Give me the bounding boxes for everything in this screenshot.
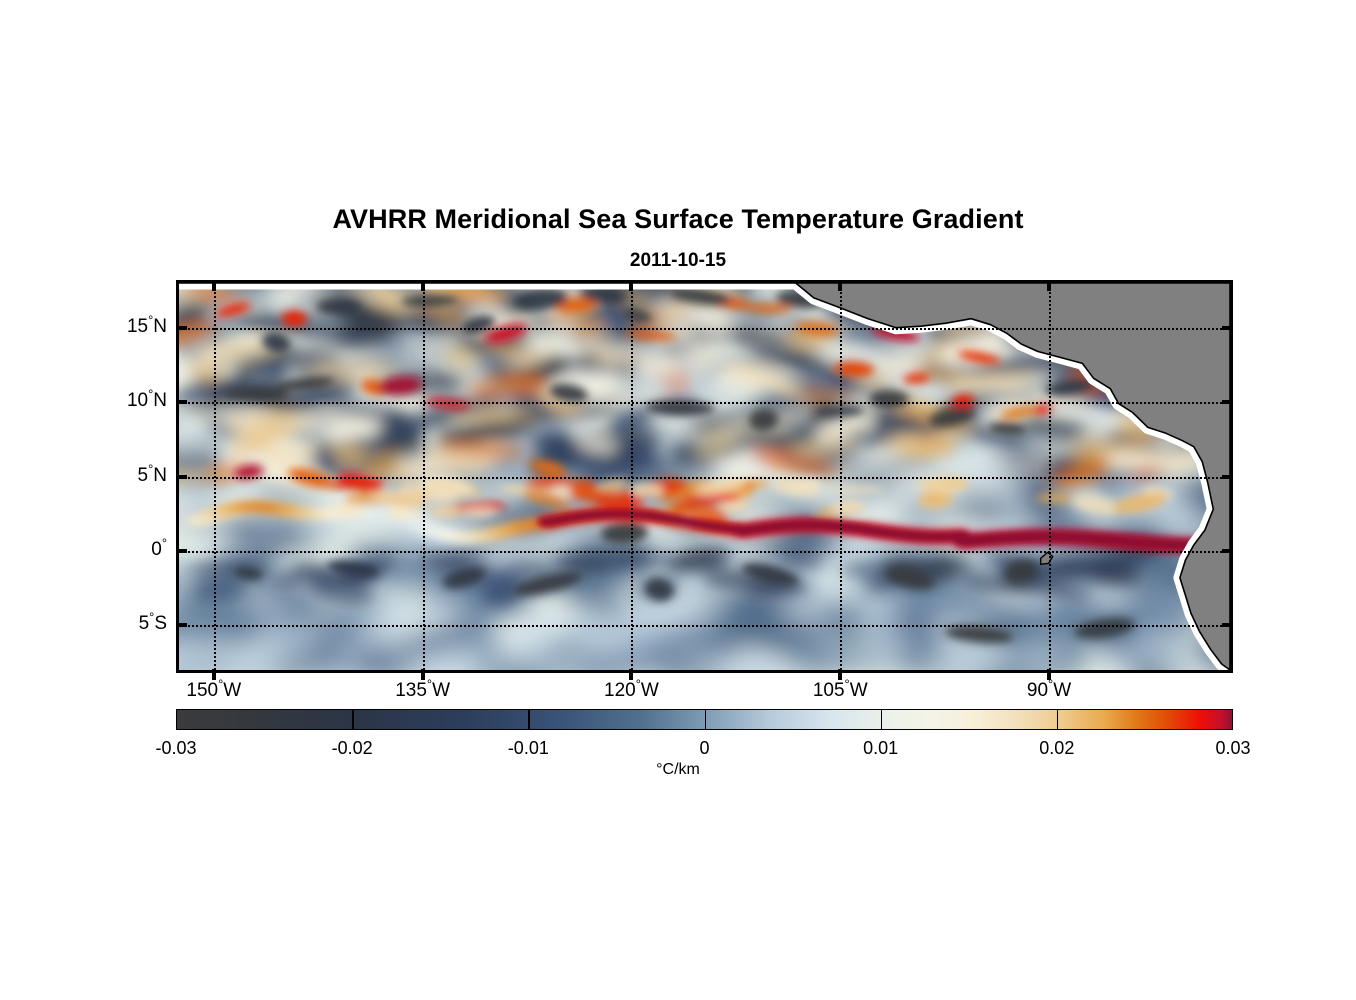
x-tick-top bbox=[1047, 280, 1051, 291]
x-tick-top bbox=[838, 280, 842, 291]
figure-subtitle: 2011-10-15 bbox=[0, 250, 1356, 272]
colorbar-tick-label: 0 bbox=[645, 739, 765, 757]
x-tick bbox=[212, 669, 216, 680]
y-tick-label: 0° bbox=[151, 540, 167, 559]
x-tick-label: 120°W bbox=[561, 681, 701, 700]
colorbar-tick-label: 0.01 bbox=[821, 739, 941, 757]
colorbar-tick-label: 0.03 bbox=[1173, 739, 1293, 757]
x-tick bbox=[421, 669, 425, 680]
x-tick-top bbox=[421, 280, 425, 291]
y-tick bbox=[176, 549, 187, 553]
colorbar-tick-label: -0.02 bbox=[292, 739, 412, 757]
y-tick-label: 10°N bbox=[127, 391, 167, 410]
y-tick bbox=[176, 326, 187, 330]
x-tick-top bbox=[212, 280, 216, 291]
x-tick-top bbox=[629, 280, 633, 291]
map-axes bbox=[176, 280, 1233, 673]
sst-gradient-heatmap bbox=[179, 283, 1230, 670]
colorbar-unit-label: °C/km bbox=[0, 761, 1356, 779]
colorbar-tick-label: -0.03 bbox=[116, 739, 236, 757]
x-tick-label: 135°W bbox=[353, 681, 493, 700]
x-tick-label: 150°W bbox=[144, 681, 284, 700]
x-tick bbox=[629, 669, 633, 680]
y-tick-right bbox=[1222, 475, 1233, 479]
y-tick bbox=[176, 623, 187, 627]
figure-title: AVHRR Meridional Sea Surface Temperature… bbox=[0, 204, 1356, 235]
y-tick-right bbox=[1222, 623, 1233, 627]
y-tick bbox=[176, 475, 187, 479]
y-tick-right bbox=[1222, 326, 1233, 330]
y-tick bbox=[176, 400, 187, 404]
y-tick-label: 5°S bbox=[139, 614, 167, 633]
x-tick-label: 105°W bbox=[770, 681, 910, 700]
colorbar-tick bbox=[705, 709, 707, 730]
y-tick-right bbox=[1222, 549, 1233, 553]
colorbar-tick-label: 0.02 bbox=[997, 739, 1117, 757]
y-tick-right bbox=[1222, 400, 1233, 404]
y-tick-label: 15°N bbox=[127, 317, 167, 336]
colorbar-tick bbox=[528, 709, 530, 730]
colorbar-tick bbox=[881, 709, 883, 730]
figure-canvas: AVHRR Meridional Sea Surface Temperature… bbox=[0, 0, 1356, 1000]
x-tick bbox=[838, 669, 842, 680]
colorbar-tick bbox=[1057, 709, 1059, 730]
x-tick-label: 90°W bbox=[979, 681, 1119, 700]
colorbar-tick-label: -0.01 bbox=[468, 739, 588, 757]
colorbar-tick bbox=[352, 709, 354, 730]
y-tick-label: 5°N bbox=[138, 466, 167, 485]
